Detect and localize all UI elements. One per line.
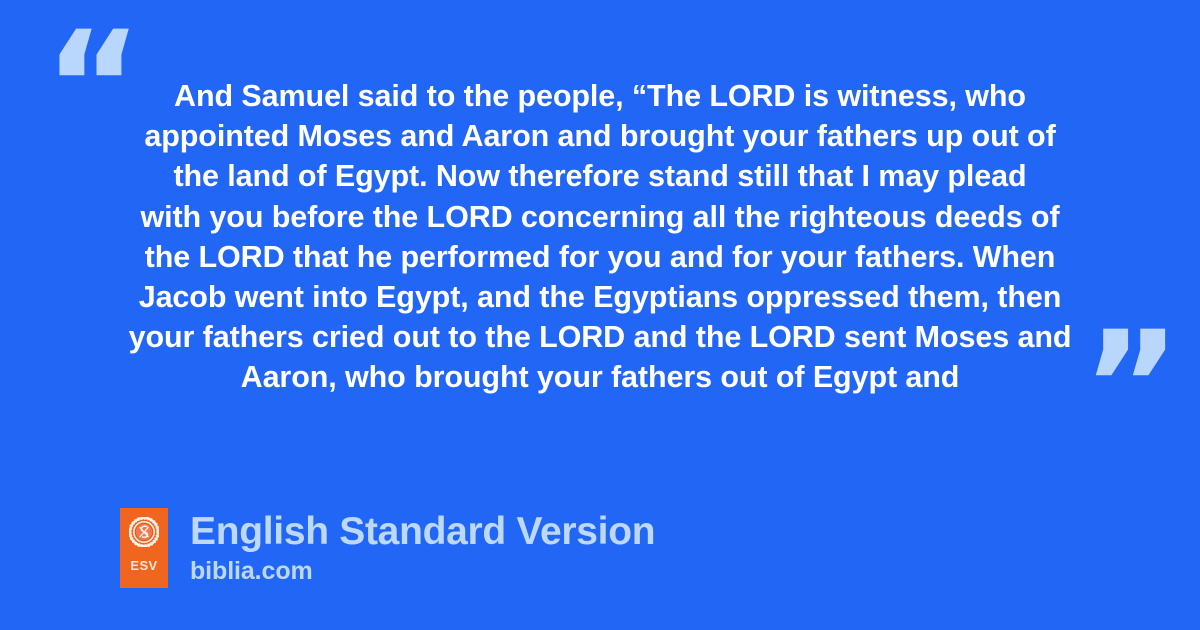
quote-line: And Samuel said to the people, “The LORD… [118,76,1082,116]
attribution-text-group: English Standard Version biblia.com [190,508,655,586]
quote-line: Jacob went into Egypt, and the Egyptians… [118,277,1082,317]
quote-line: Aaron, who brought your fathers out of E… [118,357,1082,397]
attribution-footer: ESV English Standard Version biblia.com [120,508,655,588]
quote-line: with you before the LORD concerning all … [118,197,1082,237]
bible-version-name: English Standard Version [190,510,655,554]
quote-line: your fathers cried out to the LORD and t… [118,317,1082,357]
esv-logo-label: ESV [130,559,157,572]
esv-logo-badge: ESV [120,508,168,588]
site-url-label: biblia.com [190,556,655,586]
seal-emblem-icon [129,517,159,547]
quote-line: the LORD that he performed for you and f… [118,237,1082,277]
close-quote-icon: ” [1082,312,1181,462]
quote-text: And Samuel said to the people, “The LORD… [118,76,1082,398]
quote-line: the land of Egypt. Now therefore stand s… [118,156,1082,196]
quote-card: “ ” And Samuel said to the people, “The … [0,0,1200,630]
quote-line: appointed Moses and Aaron and brought yo… [118,116,1082,156]
